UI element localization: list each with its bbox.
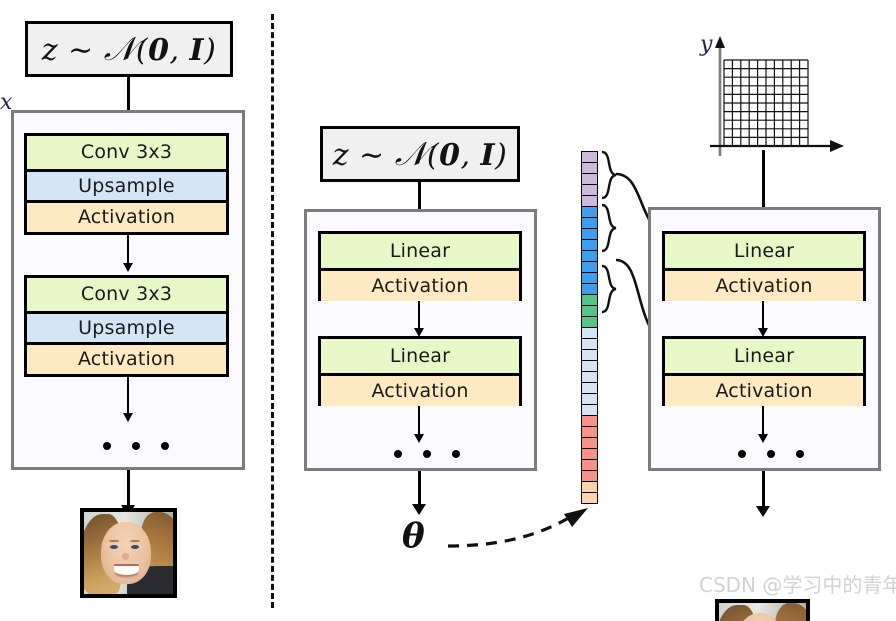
face-eye-right (131, 545, 139, 549)
left-block-1-row-activation: Activation (27, 200, 226, 232)
face-brow-left (109, 540, 119, 542)
right-ellipsis-dot-3 (796, 450, 804, 458)
left-block-1-row-conv: Conv 3x3 (27, 136, 226, 169)
face-eye-left (110, 545, 118, 549)
right-ellipsis (738, 450, 804, 458)
right-ellipsis-dot-2 (767, 450, 775, 458)
left-block-2-row-upsample: Upsample (27, 311, 226, 342)
right-arrow-panel-to-output (762, 471, 765, 511)
middle-ellipsis-dot-1 (394, 450, 402, 458)
left-block-1-row-upsample: Upsample (27, 169, 226, 200)
left-arrow-block2-to-ellipsis-head (123, 413, 133, 422)
left-ellipsis-dot-1 (103, 442, 111, 450)
y-axis-arrowhead (715, 36, 725, 48)
middle-block-1-row-linear: Linear (321, 234, 519, 268)
theta-symbol: θ (402, 516, 425, 556)
middle-block-2: Linear Activation (318, 336, 522, 406)
middle-latent-box: z ∼ 𝒩(0, I) (320, 126, 520, 182)
right-block-2: Linear Activation (662, 336, 866, 406)
weight-vector-cell (581, 492, 598, 504)
left-ellipsis-dot-3 (161, 442, 169, 450)
middle-arrow-panel-to-theta-head (412, 504, 426, 515)
coordinate-grid-plot (694, 30, 854, 160)
left-arrow-panel-to-output (127, 470, 130, 510)
left-output-face-image (80, 508, 177, 598)
left-ellipsis (103, 442, 169, 450)
right-output-face-image (715, 599, 810, 621)
panel-divider (271, 14, 274, 608)
watermark: CSDN @学习中的青年 (699, 569, 896, 598)
figure-canvas: z ∼ 𝒩(0, I) Conv 3x3 Upsample Activation… (0, 0, 896, 621)
right-block-1-row-activation: Activation (665, 268, 863, 301)
middle-ellipsis-dot-2 (423, 450, 431, 458)
right-arrow-block2-to-ellipsis-head (758, 434, 768, 443)
face-mouth (114, 564, 139, 574)
right-block-1-row-linear: Linear (665, 234, 863, 268)
right-ellipsis-dot-1 (738, 450, 746, 458)
left-latent-box: z ∼ 𝒩(0, I) (25, 21, 233, 77)
left-arrow-block2-to-ellipsis (127, 377, 129, 417)
dashed-arrowhead (564, 508, 588, 527)
right-block-2-row-linear: Linear (665, 339, 863, 373)
middle-arrow-block2-to-ellipsis-head (414, 434, 424, 443)
left-latent-formula: z ∼ 𝒩(0, I) (42, 29, 217, 69)
middle-block-1-row-activation: Activation (321, 268, 519, 301)
left-arrow-block1-to-block2-head (123, 263, 133, 272)
weight-vector-strip (581, 151, 598, 503)
middle-block-2-row-linear: Linear (321, 339, 519, 373)
left-ellipsis-dot-2 (132, 442, 140, 450)
left-block-2-row-conv: Conv 3x3 (27, 278, 226, 311)
middle-block-1: Linear Activation (318, 231, 522, 301)
x-axis-arrowhead (830, 140, 844, 152)
right-block-2-row-activation: Activation (665, 373, 863, 406)
left-block-2-row-activation: Activation (27, 342, 226, 374)
dashed-path (448, 516, 572, 546)
grid-lines (724, 60, 808, 146)
middle-block-2-row-activation: Activation (321, 373, 519, 406)
y-axis-label: y (700, 32, 712, 57)
right-arrow-panel-to-output-head (756, 506, 770, 517)
right-block-1: Linear Activation (662, 231, 866, 301)
middle-ellipsis (394, 450, 460, 458)
left-block-1: Conv 3x3 Upsample Activation (24, 133, 229, 235)
middle-latent-formula: z ∼ 𝒩(0, I) (333, 134, 508, 174)
middle-ellipsis-dot-3 (452, 450, 460, 458)
theta-to-vector-dashed-arrow (440, 500, 600, 560)
left-block-2: Conv 3x3 Upsample Activation (24, 275, 229, 377)
face-brow-right (130, 540, 140, 542)
x-axis-label: x (0, 90, 12, 115)
